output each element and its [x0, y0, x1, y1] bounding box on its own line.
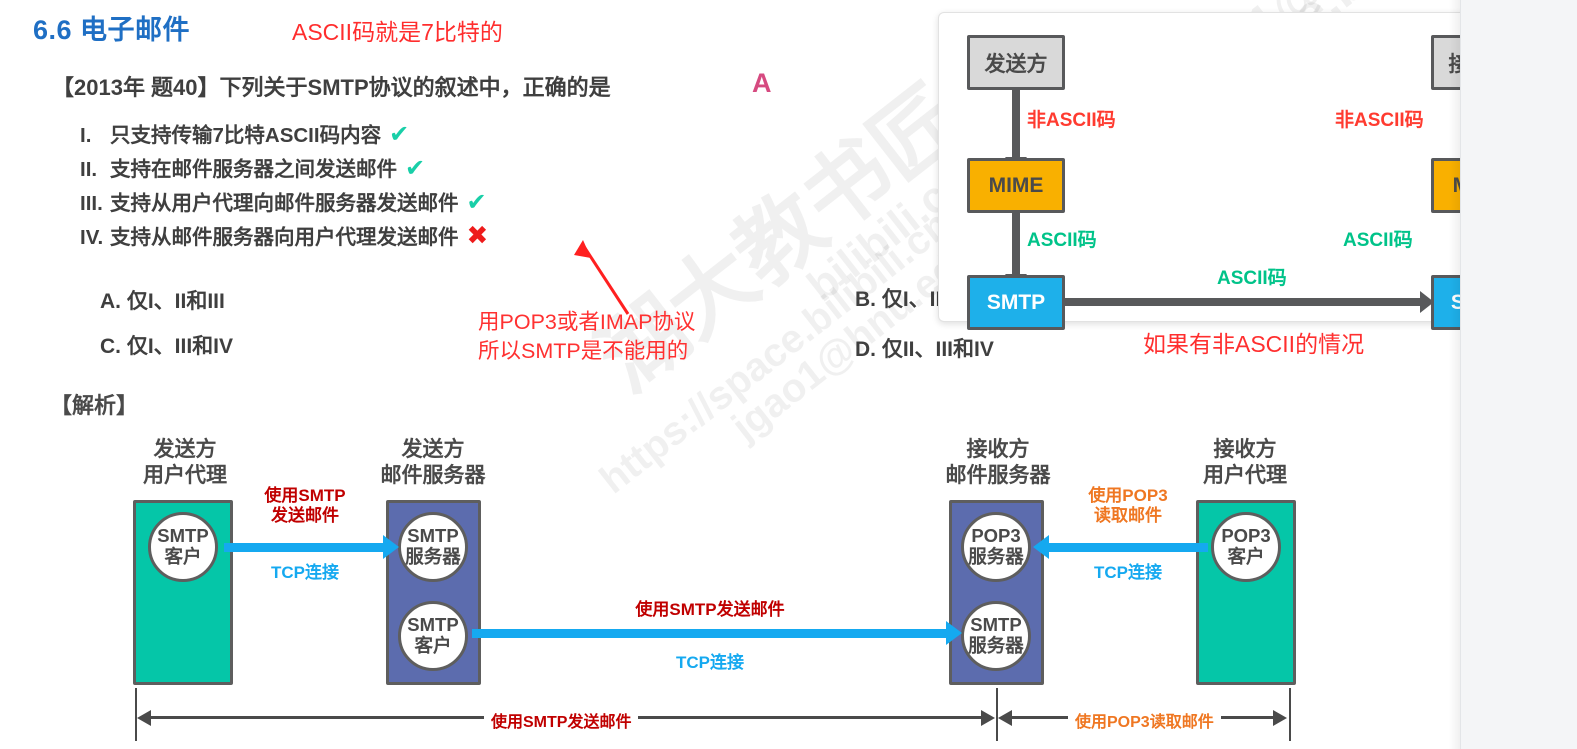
- flow-col-title-line1: 发送方: [343, 437, 523, 463]
- choice-a[interactable]: A. 仅I、II和III: [100, 285, 225, 315]
- statement-number: I.: [80, 124, 110, 148]
- circle-line1: SMTP: [407, 526, 458, 547]
- flow-label-tcp-2: TCP连接: [560, 653, 860, 673]
- flow-label-tcp-3: TCP连接: [1053, 563, 1203, 583]
- check-icon: ✔: [389, 120, 409, 149]
- circle-line2: 服务器: [968, 636, 1024, 657]
- circle-line1: POP3: [1221, 526, 1270, 547]
- flow-arrow-pop3-read-icon: [1048, 543, 1208, 552]
- circle-line1: POP3: [971, 526, 1020, 547]
- header-side-note: ASCII码就是7比特的: [292, 13, 503, 47]
- mime-arrow-mime-to-smtp-icon: [1012, 213, 1020, 275]
- circle-line2: 服务器: [968, 547, 1024, 568]
- flow-circle-pop3-client: POP3 客户: [1211, 512, 1281, 582]
- marked-answer-badge: A: [752, 68, 772, 99]
- circle-line1: SMTP: [157, 526, 208, 547]
- flow-col-title-sender-server: 发送方 邮件服务器: [343, 437, 523, 488]
- flow-col-title-line1: 发送方: [95, 437, 275, 463]
- flow-circle-smtp-client-sender: SMTP 客户: [148, 512, 218, 582]
- check-icon: ✔: [467, 188, 487, 217]
- flow-arrow-smtp-send-icon: [224, 543, 384, 552]
- statement-item: IV.支持从邮件服务器向用户代理发送邮件✖: [80, 220, 488, 251]
- flow-label-line1: 使用SMTP: [230, 486, 380, 506]
- flow-col-title-line2: 用户代理: [95, 463, 275, 489]
- statement-number: II.: [80, 158, 110, 182]
- slide-canvas: 湖大教书匠 bilibili.com/3609964 https://space…: [0, 0, 1577, 749]
- flow-col-title-receiver-ua: 接收方 用户代理: [1155, 437, 1335, 488]
- mime-label-nonascii-right: 非ASCII码: [1335, 105, 1424, 132]
- flow-circle-smtp-server-sender: SMTP 服务器: [398, 512, 468, 582]
- question-prompt: 【2013年 题40】下列关于SMTP协议的叙述中，正确的是: [52, 70, 611, 102]
- choice-d[interactable]: D. 仅II、III和IV: [855, 333, 994, 363]
- mime-label-ascii-middle: ASCII码: [1217, 263, 1287, 290]
- statement-item: I.只支持传输7比特ASCII码内容✔: [80, 118, 409, 149]
- flow-circle-smtp-client-relay: SMTP 客户: [398, 601, 468, 671]
- panel-edge-shadow: [1449, 0, 1460, 749]
- bracket-tick-right: [1289, 688, 1291, 741]
- flow-label-pop3-read: 使用POP3 读取邮件: [1053, 486, 1203, 527]
- flow-label-smtp-send: 使用SMTP 发送邮件: [230, 486, 380, 527]
- page-title: 6.6 电子邮件: [33, 8, 190, 47]
- bracket-label-smtp: 使用SMTP发送邮件: [484, 708, 638, 732]
- pop3-imap-annotation: 用POP3或者IMAP协议 所以SMTP是不能用的: [478, 308, 695, 365]
- statement-item: II.支持在邮件服务器之间发送邮件✔: [80, 152, 425, 183]
- annotation-line-1: 用POP3或者IMAP协议: [478, 308, 695, 337]
- mime-node-left: MIME: [967, 158, 1065, 213]
- statement-text: 支持从用户代理向邮件服务器发送邮件: [110, 192, 459, 215]
- flow-col-title-line2: 用户代理: [1155, 463, 1335, 489]
- flow-label-tcp-1: TCP连接: [230, 563, 380, 583]
- annotation-arrow-icon: [470, 236, 640, 318]
- flow-label-smtp-relay: 使用SMTP发送邮件: [560, 600, 860, 620]
- circle-line2: 客户: [1227, 547, 1264, 568]
- circle-line2: 客户: [164, 547, 201, 568]
- statement-number: III.: [80, 192, 110, 216]
- statement-text: 支持从邮件服务器向用户代理发送邮件: [110, 226, 459, 249]
- choice-c[interactable]: C. 仅I、III和IV: [100, 330, 233, 360]
- flow-col-title-line2: 邮件服务器: [343, 463, 523, 489]
- flow-col-title-sender-ua: 发送方 用户代理: [95, 437, 275, 488]
- flow-arrow-smtp-relay-icon: [472, 629, 947, 638]
- flow-col-title-line2: 邮件服务器: [908, 463, 1088, 489]
- mime-sender-node: 发送方: [967, 35, 1065, 90]
- circle-line1: SMTP: [970, 615, 1021, 636]
- flow-col-title-line1: 接收方: [908, 437, 1088, 463]
- circle-line2: 客户: [414, 636, 451, 657]
- flow-label-line2: 读取邮件: [1053, 506, 1203, 526]
- statement-text: 支持在邮件服务器之间发送邮件: [110, 158, 397, 181]
- mime-arrow-sender-to-mime-icon: [1012, 90, 1020, 158]
- statement-number: IV.: [80, 226, 110, 250]
- annotation-line-2: 所以SMTP是不能用的: [478, 337, 695, 366]
- statement-item: III.支持从用户代理向邮件服务器发送邮件✔: [80, 186, 487, 217]
- flow-circle-pop3-server: POP3 服务器: [961, 512, 1031, 582]
- mime-label-ascii-left: ASCII码: [1027, 225, 1097, 252]
- circle-line1: SMTP: [407, 615, 458, 636]
- flow-circle-smtp-server-receiver: SMTP 服务器: [961, 601, 1031, 671]
- flow-label-line2: 发送邮件: [230, 506, 380, 526]
- bracket-label-pop3: 使用POP3读取邮件: [1068, 708, 1221, 732]
- mime-label-nonascii-left: 非ASCII码: [1027, 105, 1116, 132]
- mime-diagram-caption: 如果有非ASCII的情况: [1143, 325, 1364, 359]
- statement-text: 只支持传输7比特ASCII码内容: [110, 124, 381, 147]
- flow-label-line1: 使用POP3: [1053, 486, 1203, 506]
- mime-arrow-smtp-to-smtp-icon: [1065, 298, 1421, 306]
- mime-label-ascii-right: ASCII码: [1343, 225, 1413, 252]
- flow-col-title-receiver-server: 接收方 邮件服务器: [908, 437, 1088, 488]
- check-icon: ✔: [405, 154, 425, 183]
- right-gutter-panel: [1460, 0, 1577, 749]
- circle-line2: 服务器: [405, 547, 461, 568]
- analysis-label: 【解析】: [50, 388, 138, 420]
- smtp-node-left: SMTP: [967, 275, 1065, 330]
- flow-col-title-line1: 接收方: [1155, 437, 1335, 463]
